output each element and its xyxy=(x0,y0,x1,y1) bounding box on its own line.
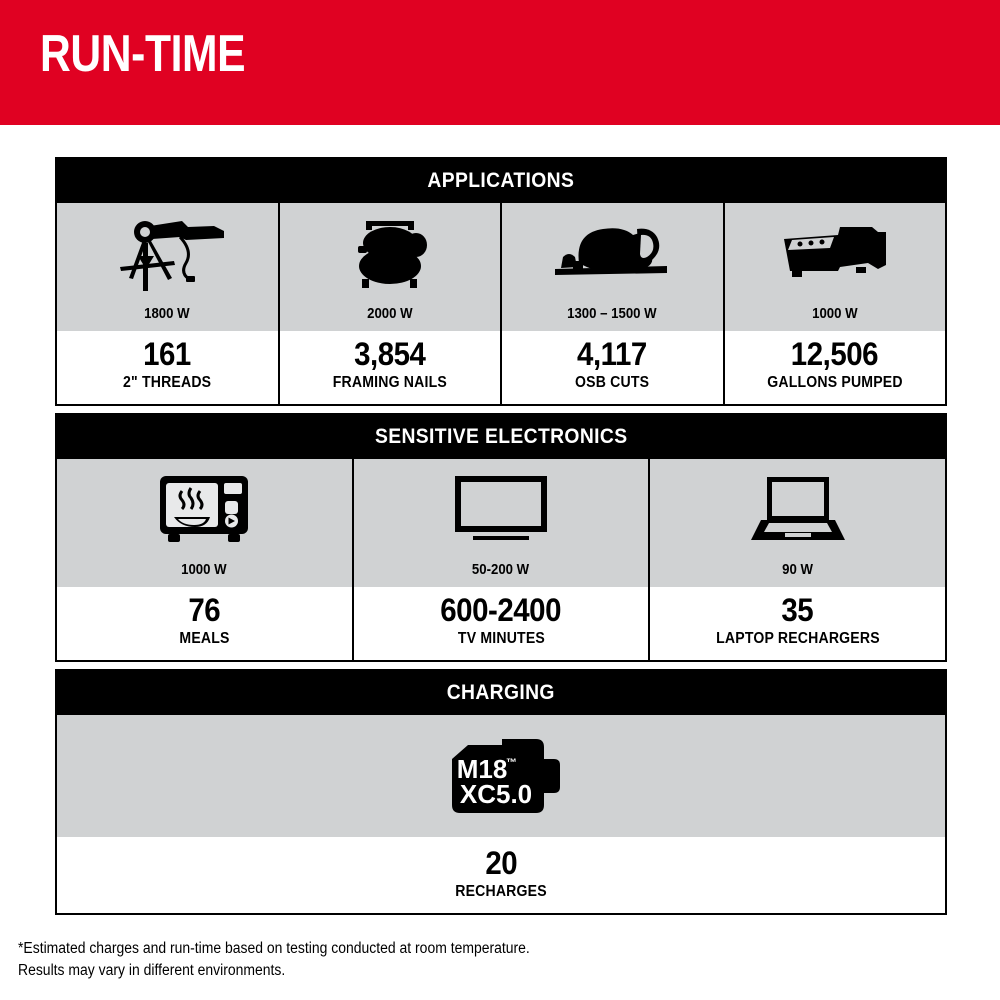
page-banner: RUN-TIME xyxy=(0,0,1000,125)
applications-header: APPLICATIONS xyxy=(57,159,945,203)
m18-battery-icon-cell: M18 ™ XC5.0 xyxy=(57,715,945,837)
electronics-columns: 1000 W 76 MEALS 50-200 W 600-2400 xyxy=(57,459,945,660)
air-compressor-icon xyxy=(340,213,440,293)
application-column-threads: 1800 W 161 2" THREADS xyxy=(57,203,278,404)
charging-panel: CHARGING M18 ™ XC5.0 20 RECHARGES xyxy=(55,669,947,915)
metric-value: 20 xyxy=(57,837,945,881)
metric-value: 76 xyxy=(57,587,352,628)
application-column-osb: 1300 – 1500 W 4,117 OSB CUTS xyxy=(500,203,723,404)
electronics-header-label: SENSITIVE ELECTRONICS xyxy=(375,415,627,459)
applications-panel: APPLICATIONS xyxy=(55,157,947,406)
metric-value: 600-2400 xyxy=(354,587,649,628)
transfer-pump-icon xyxy=(780,223,890,283)
metric-label: MEALS xyxy=(57,628,352,660)
metric-value: 12,506 xyxy=(725,331,946,372)
svg-text:XC5.0: XC5.0 xyxy=(460,779,532,809)
microwave-icon-cell xyxy=(57,459,352,559)
metric-label: RECHARGES xyxy=(57,881,945,913)
watts-value: 1000 W xyxy=(725,303,946,331)
tv-icon-cell xyxy=(354,459,649,559)
electronics-column-meals: 1000 W 76 MEALS xyxy=(57,459,352,660)
charging-column-recharges: M18 ™ XC5.0 20 RECHARGES xyxy=(57,715,945,913)
watts-value: 50-200 W xyxy=(354,559,649,587)
metric-value: 3,854 xyxy=(280,331,501,372)
electronics-header: SENSITIVE ELECTRONICS xyxy=(57,415,945,459)
circular-saw-icon xyxy=(549,217,675,289)
watts-value: 1300 – 1500 W xyxy=(502,303,723,331)
metric-label: OSB CUTS xyxy=(502,372,723,404)
metric-label: LAPTOP RECHARGERS xyxy=(650,628,945,660)
transfer-pump-icon-cell xyxy=(725,203,946,303)
application-column-nails: 2000 W 3,854 FRAMING NAILS xyxy=(278,203,501,404)
watts-value: 1800 W xyxy=(57,303,278,331)
drill-stand-icon-cell xyxy=(57,203,278,303)
laptop-icon-cell xyxy=(650,459,945,559)
page-title: RUN-TIME xyxy=(40,28,245,80)
microwave-icon xyxy=(158,474,250,544)
application-column-pump: 1000 W 12,506 GALLONS PUMPED xyxy=(723,203,946,404)
applications-columns: 1800 W 161 2" THREADS xyxy=(57,203,945,404)
drill-stand-icon xyxy=(108,213,226,293)
watts-value: 1000 W xyxy=(57,559,352,587)
m18-battery-icon: M18 ™ XC5.0 xyxy=(440,733,562,819)
electronics-column-laptop: 90 W 35 LAPTOP RECHARGERS xyxy=(648,459,945,660)
charging-header: CHARGING xyxy=(57,671,945,715)
metric-value: 4,117 xyxy=(502,331,723,372)
metric-label: TV MINUTES xyxy=(354,628,649,660)
metric-label: FRAMING NAILS xyxy=(280,372,501,404)
metric-value: 161 xyxy=(57,331,278,372)
applications-header-label: APPLICATIONS xyxy=(428,159,575,203)
metric-value: 35 xyxy=(650,587,945,628)
charging-columns: M18 ™ XC5.0 20 RECHARGES xyxy=(57,715,945,913)
metric-label: 2" THREADS xyxy=(57,372,278,404)
footnote: *Estimated charges and run-time based on… xyxy=(18,938,638,983)
circular-saw-icon-cell xyxy=(502,203,723,303)
tv-icon xyxy=(451,474,551,544)
footnote-text: *Estimated charges and run-time based on… xyxy=(18,938,576,983)
svg-text:™: ™ xyxy=(506,757,517,769)
watts-value: 90 W xyxy=(650,559,945,587)
watts-value: 2000 W xyxy=(280,303,501,331)
sensitive-electronics-panel: SENSITIVE ELECTRONICS xyxy=(55,413,947,662)
laptop-icon xyxy=(749,474,847,544)
air-compressor-icon-cell xyxy=(280,203,501,303)
metric-label: GALLONS PUMPED xyxy=(725,372,946,404)
charging-header-label: CHARGING xyxy=(447,671,555,715)
electronics-column-tv: 50-200 W 600-2400 TV MINUTES xyxy=(352,459,649,660)
